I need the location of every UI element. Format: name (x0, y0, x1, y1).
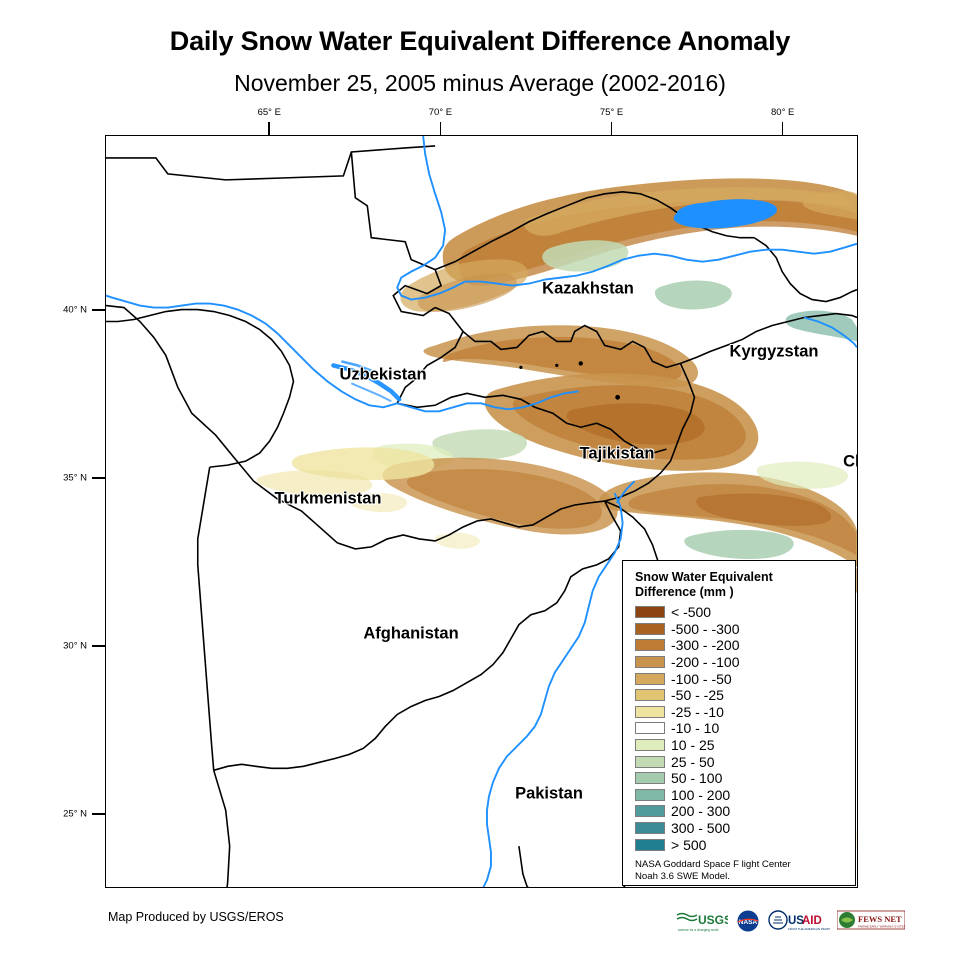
nasa-logo[interactable]: NASA (735, 909, 761, 933)
svg-text:FROM THE AMERICAN PEOPLE: FROM THE AMERICAN PEOPLE (788, 927, 830, 931)
legend-label: -25 - -10 (671, 705, 724, 719)
legend-label: -50 - -25 (671, 688, 724, 702)
lon-tick (440, 122, 442, 135)
legend-row: -10 - 10 (635, 720, 855, 737)
legend-row: 300 - 500 (635, 820, 855, 837)
legend-label: 50 - 100 (671, 771, 722, 785)
legend-row: -50 - -25 (635, 687, 855, 704)
legend-swatch (635, 606, 665, 618)
legend-swatch (635, 839, 665, 851)
legend-label: -300 - -200 (671, 638, 739, 652)
lon-tick (268, 122, 270, 135)
legend-label: 25 - 50 (671, 755, 715, 769)
legend-class-list: < -500-500 - -300-300 - -200-200 - -100-… (635, 604, 855, 853)
legend-label: < -500 (671, 605, 711, 619)
legend-row: > 500 (635, 836, 855, 853)
legend-title: Snow Water Equivalent Difference (mm ) (635, 570, 835, 600)
svg-text:FAMINE EARLY WARNING SYSTEMS N: FAMINE EARLY WARNING SYSTEMS NETWORK (858, 925, 905, 929)
usgs-logo[interactable]: USGS science for a changing world (676, 909, 728, 933)
legend-swatch (635, 756, 665, 768)
legend-swatch (635, 689, 665, 701)
legend-row: -500 - -300 (635, 621, 855, 638)
legend-swatch (635, 623, 665, 635)
legend-label: 100 - 200 (671, 788, 730, 802)
legend-title-line2: Difference (mm ) (635, 585, 734, 599)
legend-swatch (635, 673, 665, 685)
legend-row: -200 - -100 (635, 654, 855, 671)
legend-swatch (635, 656, 665, 668)
legend-swatch (635, 805, 665, 817)
fewsnet-logo[interactable]: FEWS NET FAMINE EARLY WARNING SYSTEMS NE… (837, 909, 905, 933)
lat-tick (92, 477, 105, 479)
legend-row: -300 - -200 (635, 637, 855, 654)
lat-tick (92, 309, 105, 311)
svg-text:science for a changing world: science for a changing world (678, 928, 719, 932)
legend-label: 300 - 500 (671, 821, 730, 835)
producer-credit: Map Produced by USGS/EROS (108, 910, 284, 924)
legend-row: 100 - 200 (635, 787, 855, 804)
lon-tick (611, 122, 613, 135)
lat-tick-label: 25° N (43, 809, 87, 820)
legend-label: > 500 (671, 838, 706, 852)
lon-tick-label: 70° E (429, 107, 452, 118)
lon-tick-label: 75° E (600, 107, 623, 118)
legend-row: 200 - 300 (635, 803, 855, 820)
legend-row: -25 - -10 (635, 704, 855, 721)
lat-tick-label: 40° N (43, 304, 87, 315)
legend-label: 200 - 300 (671, 804, 730, 818)
legend-row: 10 - 25 (635, 737, 855, 754)
legend-swatch (635, 772, 665, 784)
legend-credit: NASA Goddard Space F light Center Noah 3… (635, 859, 840, 884)
svg-text:FEWS NET: FEWS NET (858, 914, 902, 924)
legend-row: < -500 (635, 604, 855, 621)
legend-label: -10 - 10 (671, 721, 719, 735)
lon-tick (782, 122, 784, 135)
legend-swatch (635, 722, 665, 734)
lat-tick-label: 35° N (43, 472, 87, 483)
page-title: Daily Snow Water Equivalent Difference A… (0, 26, 960, 57)
lon-tick-label: 80° E (771, 107, 794, 118)
usaid-logo[interactable]: US AID FROM THE AMERICAN PEOPLE (768, 909, 830, 933)
legend-row: 50 - 100 (635, 770, 855, 787)
legend-swatch (635, 639, 665, 651)
page-subtitle: November 25, 2005 minus Average (2002-20… (0, 70, 960, 97)
lon-tick-label: 65° E (258, 107, 281, 118)
map-page: Daily Snow Water Equivalent Difference A… (0, 0, 960, 960)
svg-text:AID: AID (802, 915, 822, 927)
svg-text:USGS: USGS (698, 913, 728, 927)
legend-swatch (635, 789, 665, 801)
legend-label: -100 - -50 (671, 672, 732, 686)
legend-label: -200 - -100 (671, 655, 739, 669)
legend-credit-line1: NASA Goddard Space F light Center (635, 859, 791, 870)
map-legend[interactable]: Snow Water Equivalent Difference (mm ) <… (622, 560, 856, 886)
legend-swatch (635, 706, 665, 718)
agency-logos: USGS science for a changing world NASA U… (676, 908, 905, 934)
legend-row: -100 - -50 (635, 670, 855, 687)
lat-tick-label: 30° N (43, 640, 87, 651)
legend-row: 25 - 50 (635, 753, 855, 770)
legend-label: -500 - -300 (671, 622, 739, 636)
legend-swatch (635, 822, 665, 834)
legend-swatch (635, 739, 665, 751)
legend-credit-line2: Noah 3.6 SWE Model. (635, 871, 730, 882)
lat-tick (92, 645, 105, 647)
legend-title-line1: Snow Water Equivalent (635, 570, 773, 584)
lat-tick (92, 813, 105, 815)
legend-label: 10 - 25 (671, 738, 715, 752)
